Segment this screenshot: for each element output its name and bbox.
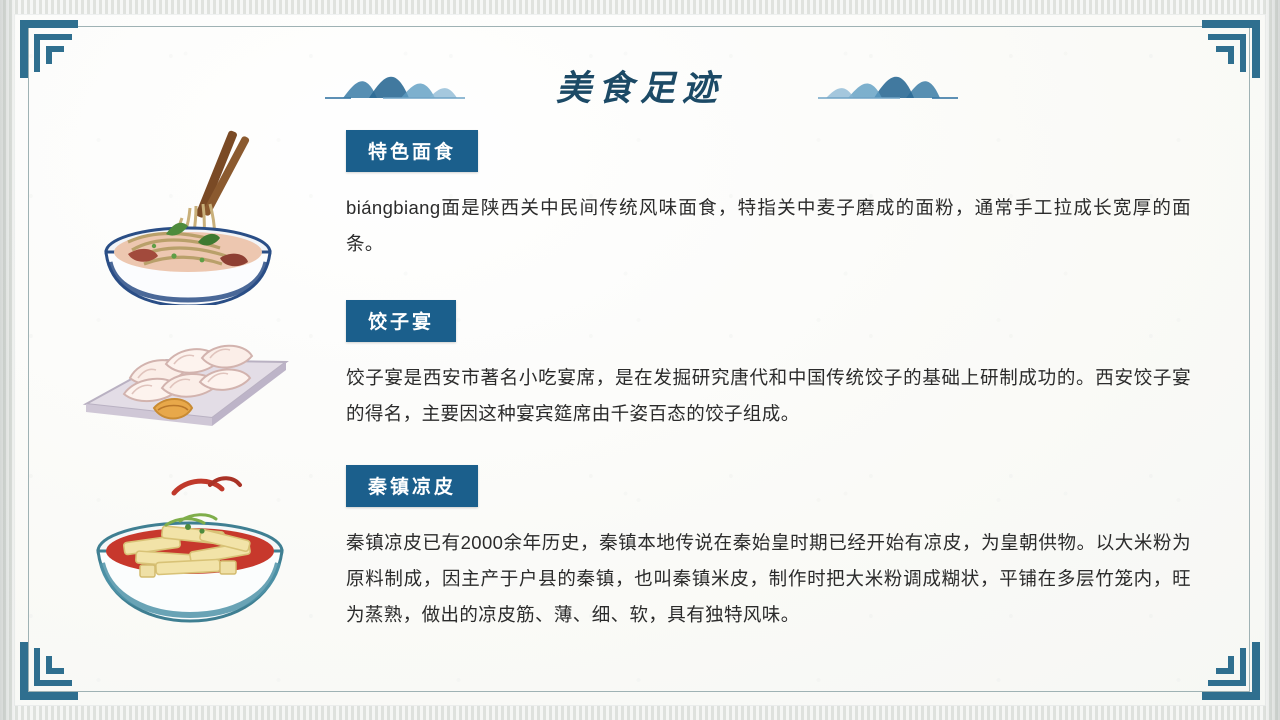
- section-body: 饺子宴 饺子宴是西安市著名小吃宴席，是在发掘研究唐代和中国传统饺子的基础上研制成…: [330, 300, 1220, 432]
- section-row: 特色面食 biángbiang面是陕西关中民间传统风味面食，特指关中麦子磨成的面…: [70, 130, 1220, 300]
- slide-header: 美食足迹: [0, 42, 1280, 112]
- section-tag: 秦镇凉皮: [346, 465, 478, 507]
- ink-mountain-right-icon: [818, 58, 958, 109]
- section-row: 饺子宴 饺子宴是西安市著名小吃宴席，是在发掘研究唐代和中国传统饺子的基础上研制成…: [70, 300, 1220, 470]
- section-tag: 特色面食: [346, 130, 478, 172]
- section-row: 秦镇凉皮 秦镇凉皮已有2000余年历史，秦镇本地传说在秦始皇时期已经开始有凉皮，…: [70, 465, 1220, 635]
- section-text: 秦镇凉皮已有2000余年历史，秦镇本地传说在秦始皇时期已经开始有凉皮，为皇朝供物…: [346, 525, 1191, 633]
- section-text: biángbiang面是陕西关中民间传统风味面食，特指关中麦子磨成的面粉，通常手…: [346, 190, 1191, 262]
- dumpling-plate-illustration: [70, 300, 330, 470]
- section-body: 秦镇凉皮 秦镇凉皮已有2000余年历史，秦镇本地传说在秦始皇时期已经开始有凉皮，…: [330, 465, 1220, 633]
- liangpi-bowl-illustration: [70, 465, 330, 635]
- page-title: 美食足迹: [0, 60, 1280, 111]
- slide-page: 美食足迹: [0, 0, 1280, 720]
- section-text: 饺子宴是西安市著名小吃宴席，是在发掘研究唐代和中国传统饺子的基础上研制成功的。西…: [346, 360, 1191, 432]
- noodle-bowl-illustration: [70, 130, 330, 300]
- section-tag: 饺子宴: [346, 300, 456, 342]
- section-body: 特色面食 biángbiang面是陕西关中民间传统风味面食，特指关中麦子磨成的面…: [330, 130, 1220, 262]
